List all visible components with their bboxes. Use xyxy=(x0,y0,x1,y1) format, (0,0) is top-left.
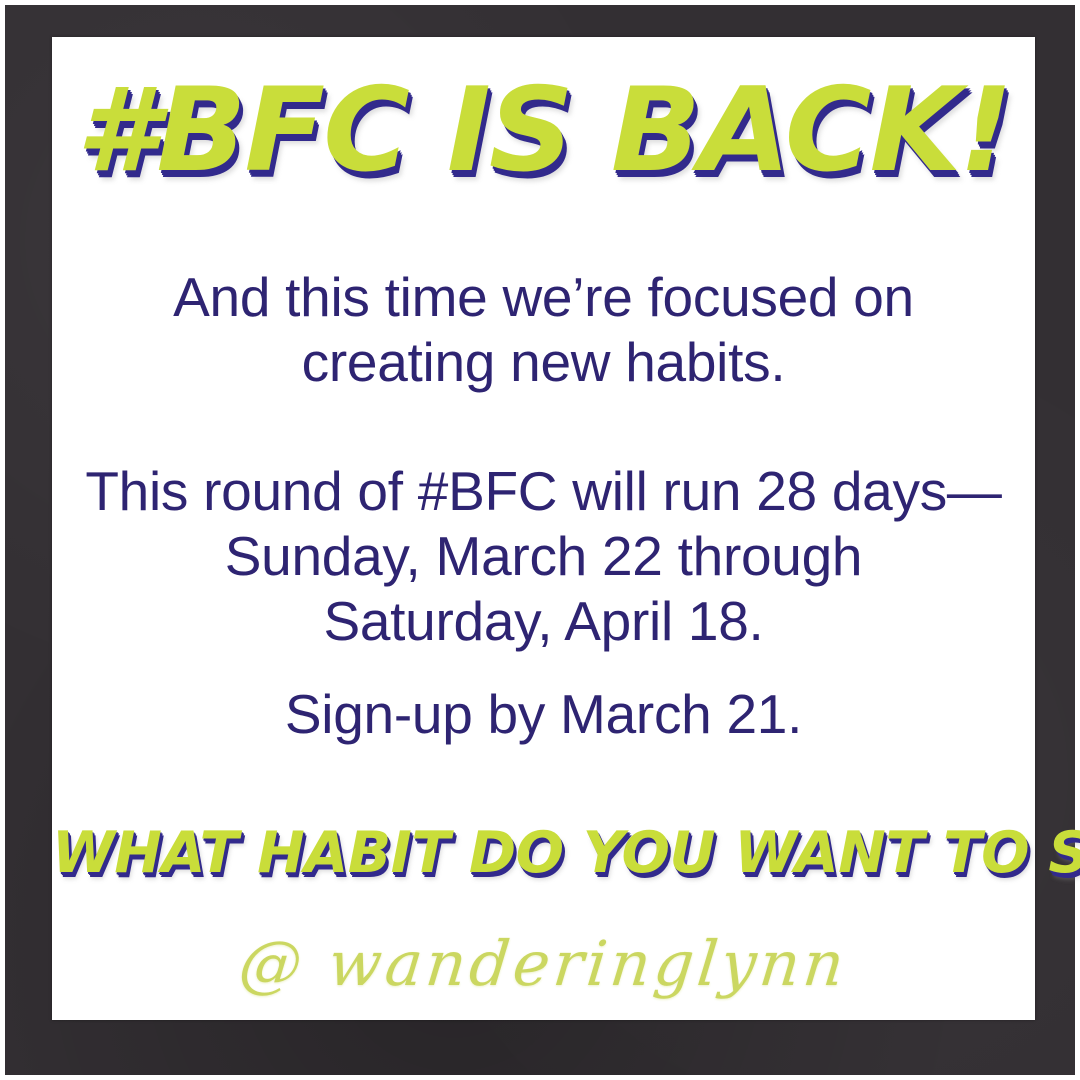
signup-deadline: Sign-up by March 21. xyxy=(52,682,1035,747)
dates-paragraph: This round of #BFC will run 28 days— Sun… xyxy=(52,459,1035,654)
page-title: #BFC IS BACK! xyxy=(42,73,1045,189)
poster-root: #BFC IS BACK! And this time we’re focuse… xyxy=(0,0,1080,1080)
intro-paragraph: And this time we’re focused on creating … xyxy=(52,265,1035,395)
dates-line-1: This round of #BFC will run 28 days— xyxy=(58,459,1029,524)
dates-line-2: Sunday, March 22 through xyxy=(58,524,1029,589)
intro-line-2: creating new habits. xyxy=(94,330,993,395)
intro-line-1: And this time we’re focused on xyxy=(94,265,993,330)
signup-line: Sign-up by March 21. xyxy=(52,682,1035,747)
dates-line-3: Saturday, April 18. xyxy=(58,589,1029,654)
flyer-content: #BFC IS BACK! And this time we’re focuse… xyxy=(52,37,1035,1020)
social-handle: @ wanderinglynn xyxy=(48,927,1039,1000)
cta-question: WHAT HABIT DO YOU WANT TO START? xyxy=(52,825,1035,882)
flyer-card: #BFC IS BACK! And this time we’re focuse… xyxy=(52,37,1035,1020)
